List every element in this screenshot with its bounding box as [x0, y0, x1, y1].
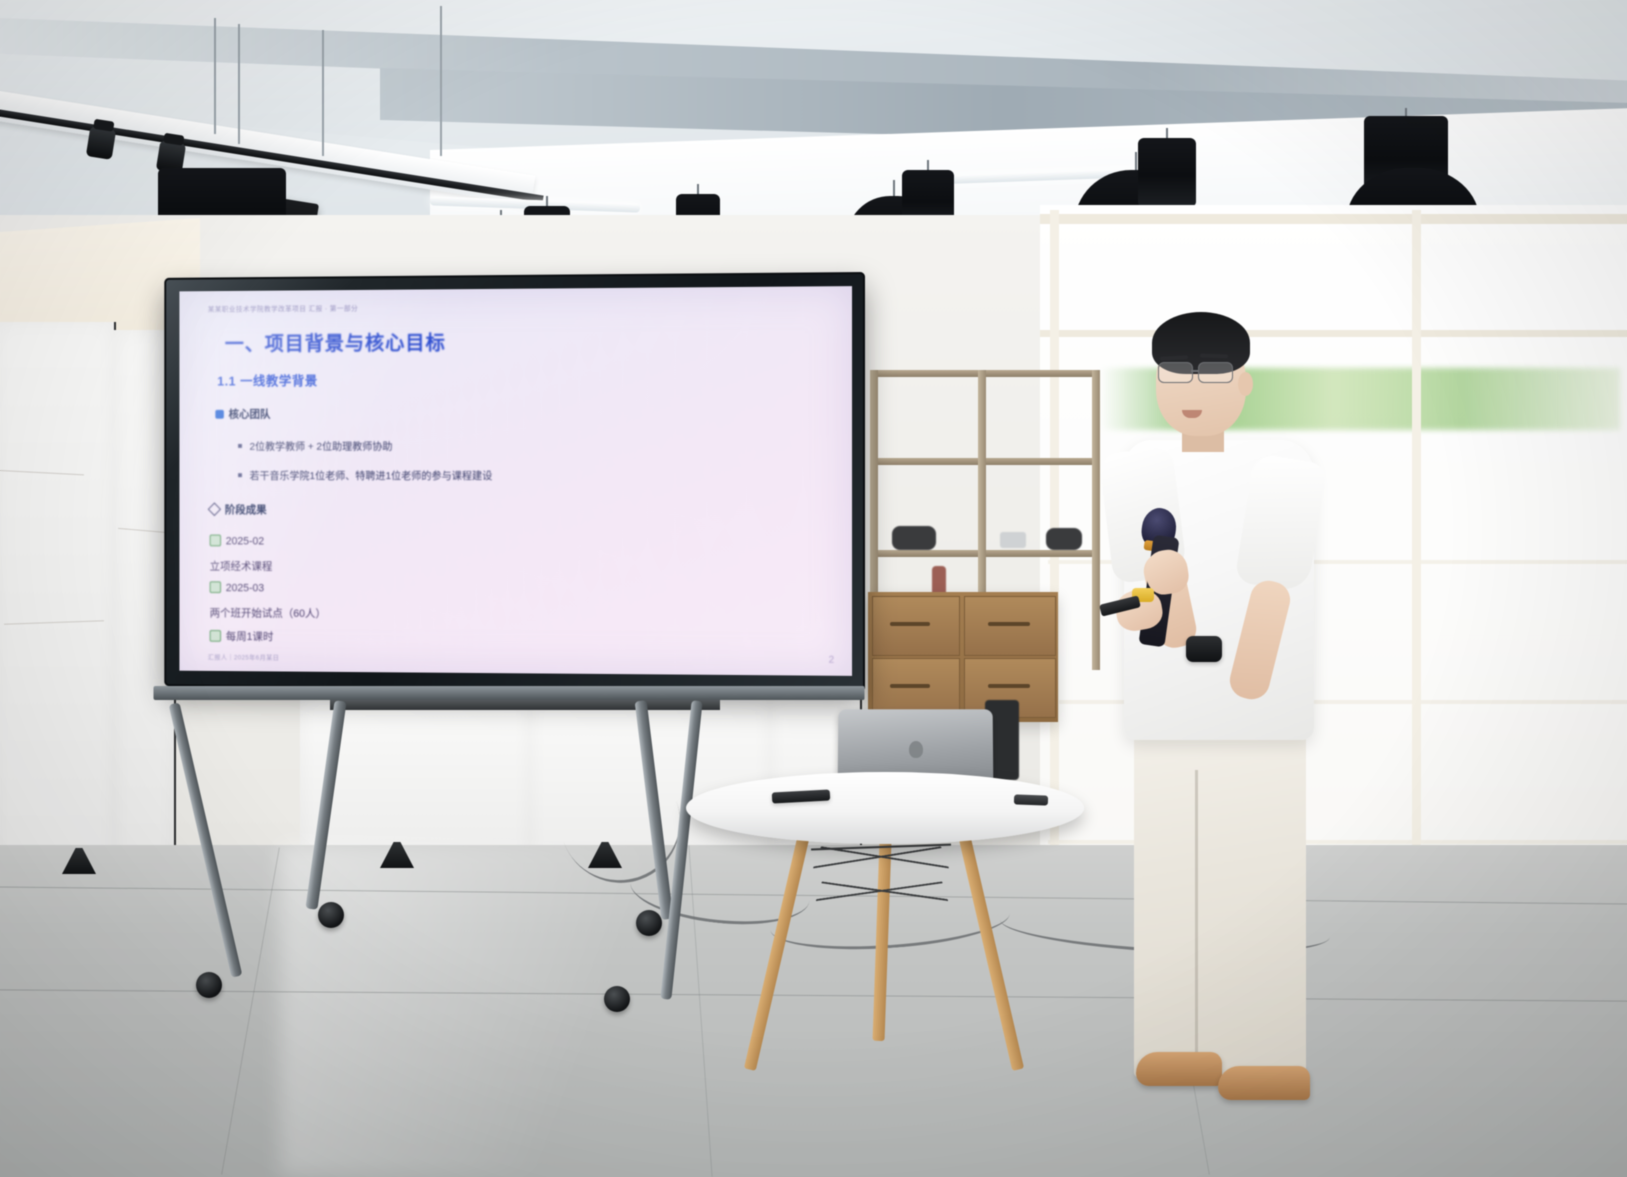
green-check-icon [210, 535, 221, 547]
presenter-shoe [1136, 1052, 1222, 1086]
bullet-square-icon [238, 473, 242, 477]
presenter [1090, 300, 1410, 1110]
slide-block-label-results: 阶段成果 [210, 501, 267, 517]
slide-header-line: 某某职业技术学院教学改革项目 汇报 · 第一部分 [208, 304, 358, 315]
wooden-dresser [868, 592, 1058, 722]
slide-footer: 汇报人｜2025年6月某日 [208, 651, 279, 661]
track-spotlight-icon [86, 126, 116, 160]
slide-page-number: 2 [829, 655, 835, 666]
partition-panel [0, 322, 116, 882]
slide-timeline-note: 两个班开始试点（60人） [210, 605, 326, 621]
apple-logo-icon [908, 741, 922, 758]
slide-bullet-item: 2位教学教师 + 2位助理教师协助 [238, 439, 392, 454]
slide-timeline-date: 2025-02 [210, 535, 264, 548]
slide-screen[interactable]: 某某职业技术学院教学改革项目 汇报 · 第一部分 一、项目背景与核心目标 1.1… [179, 286, 852, 676]
slide-last-item: 每周1课时 [210, 628, 274, 644]
stand-caster [604, 986, 630, 1012]
green-check-icon [210, 581, 221, 593]
presenter-trousers [1134, 718, 1306, 1078]
presenter-shoe [1218, 1066, 1310, 1100]
display-stand-crossbar [330, 700, 720, 710]
display-bezel: 某某职业技术学院教学改革项目 汇报 · 第一部分 一、项目背景与核心目标 1.1… [164, 272, 865, 692]
window-frame [1040, 214, 1627, 224]
slide-block-label-core-team: 核心团队 [215, 406, 270, 422]
hanging-wire [440, 6, 442, 156]
slide-title: 一、项目背景与核心目标 [225, 327, 446, 357]
stand-caster [318, 902, 344, 928]
slide-timeline-note: 立项经术课程 [210, 558, 273, 574]
smartwatch [1186, 636, 1222, 662]
hanging-wire [322, 30, 324, 156]
round-table [686, 772, 1084, 844]
check-square-icon [215, 410, 224, 419]
diamond-icon [208, 502, 221, 516]
eyeglasses [1156, 362, 1242, 382]
hanging-wire [214, 18, 216, 134]
pendant-lamp [1138, 128, 1196, 210]
display-stand-rail [154, 686, 865, 700]
stand-caster [636, 910, 662, 936]
interactive-display-panel[interactable]: 某某职业技术学院教学改革项目 汇报 · 第一部分 一、项目背景与核心目标 1.1… [164, 272, 865, 692]
hanging-wire [238, 24, 240, 144]
lens-left [1158, 362, 1193, 383]
bullet-square-icon [238, 444, 242, 448]
trouser-seam [1195, 770, 1198, 1070]
green-check-icon [210, 630, 221, 642]
presentation-clicker[interactable] [1014, 794, 1048, 805]
slide-subtitle: 1.1 一线教学背景 [217, 370, 318, 389]
glasses-bridge [1191, 370, 1199, 372]
slide-bullet-item: 若干音乐学院1位老师、特聘进1位老师的参与课程建设 [238, 468, 492, 483]
lens-right [1198, 362, 1233, 383]
stand-caster [196, 972, 222, 998]
presentation-photo: 某某职业技术学院教学改革项目 汇报 · 第一部分 一、项目背景与核心目标 1.1… [0, 0, 1627, 1177]
slide-timeline-date: 2025-03 [210, 581, 264, 594]
